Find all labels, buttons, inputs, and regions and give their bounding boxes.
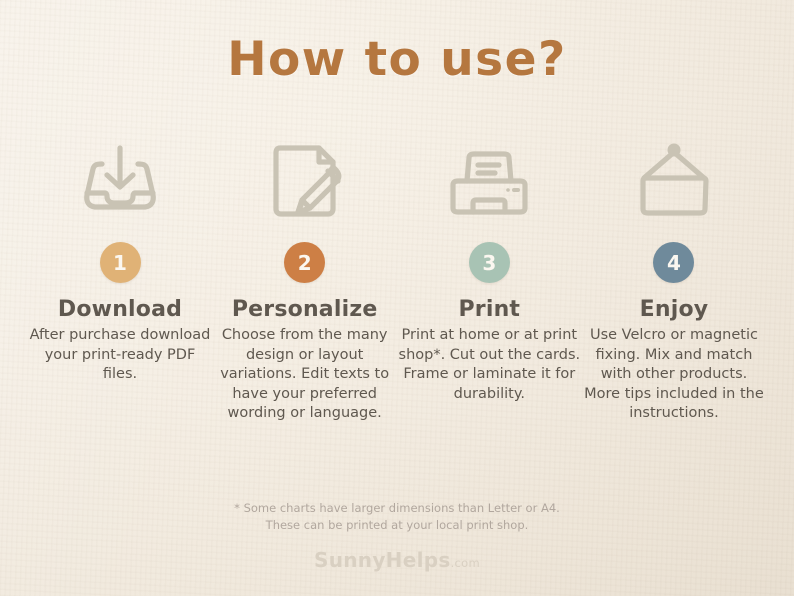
- step-badge-1: 1: [100, 242, 141, 283]
- step-number: 2: [298, 253, 312, 273]
- step-body-enjoy: Use Velcro or magnetic fixing. Mix and m…: [583, 326, 765, 424]
- footnote: * Some charts have larger dimensions tha…: [0, 500, 794, 535]
- step-title-personalize: Personalize: [232, 297, 378, 322]
- step-column-enjoy: 4 Enjoy Use Velcro or magnetic fixing. M…: [582, 128, 766, 424]
- hanging-frame-icon: [624, 128, 724, 234]
- step-body-download: After purchase download your print-ready…: [29, 326, 211, 385]
- step-column-personalize: 2 Personalize Choose from the many desig…: [213, 128, 397, 424]
- step-badge-3: 3: [469, 242, 510, 283]
- step-number: 4: [667, 253, 681, 273]
- brand-name: SunnyHelps: [314, 548, 451, 572]
- step-column-download: 1 Download After purchase download your …: [28, 128, 212, 385]
- step-column-print: 3 Print Print at home or at print shop*.…: [397, 128, 581, 404]
- printer-icon: [439, 128, 539, 234]
- brand-logo: SunnyHelps.com: [0, 548, 794, 572]
- step-number: 3: [482, 253, 496, 273]
- brand-tld: .com: [451, 556, 480, 570]
- page-title: How to use?: [0, 32, 794, 87]
- step-badge-2: 2: [284, 242, 325, 283]
- step-title-enjoy: Enjoy: [640, 297, 709, 322]
- steps-row: 1 Download After purchase download your …: [28, 128, 766, 424]
- step-body-print: Print at home or at print shop*. Cut out…: [398, 326, 580, 404]
- download-tray-icon: [72, 128, 168, 234]
- how-to-use-poster: How to use? 1 Download After purchase do…: [0, 0, 794, 596]
- step-body-personalize: Choose from the many design or layout va…: [214, 326, 396, 424]
- step-title-download: Download: [58, 297, 182, 322]
- step-badge-4: 4: [653, 242, 694, 283]
- step-number: 1: [113, 253, 127, 273]
- footnote-line-1: * Some charts have larger dimensions tha…: [0, 500, 794, 517]
- document-pencil-icon: [257, 128, 353, 234]
- step-title-print: Print: [458, 297, 520, 322]
- footnote-line-2: These can be printed at your local print…: [0, 517, 794, 534]
